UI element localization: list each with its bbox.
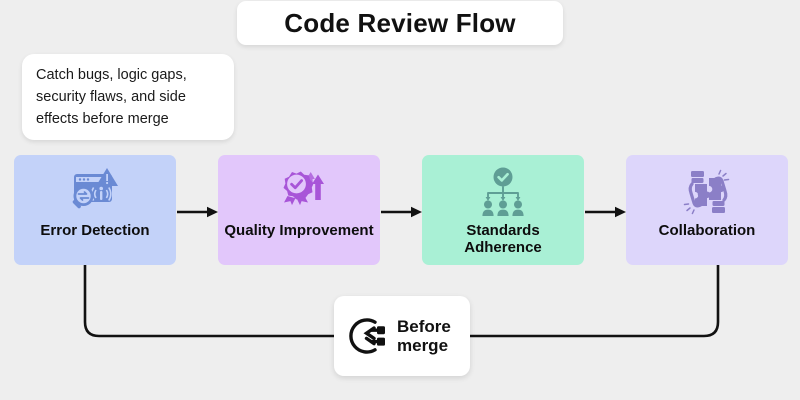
arrow-right-icon <box>177 205 219 217</box>
stage-card-quality-improvement[interactable]: Quality Improvement <box>218 155 380 265</box>
arrow-right-icon <box>381 205 423 217</box>
stage-label-quality-improvement: Quality Improvement <box>220 223 377 240</box>
git-merge-icon <box>347 315 389 357</box>
stage-label-standards-adherence: Standards Adherence <box>422 223 584 257</box>
collaboration-icon <box>678 163 736 221</box>
standards-adherence-icon <box>474 163 532 221</box>
page-title: Code Review Flow <box>284 10 515 36</box>
before-merge-card[interactable]: Before merge <box>334 296 470 376</box>
stage-label-collaboration: Collaboration <box>655 223 760 240</box>
loop-path-right <box>464 265 718 336</box>
before-merge-label-line2: merge <box>397 336 451 355</box>
error-detection-icon <box>65 163 125 221</box>
quality-improvement-icon <box>270 163 328 221</box>
stage-label-error-detection: Error Detection <box>36 223 153 240</box>
arrow-right-icon <box>585 205 627 217</box>
before-merge-label: Before merge <box>397 317 451 356</box>
stage-card-collaboration[interactable]: Collaboration <box>626 155 788 265</box>
stage-card-standards-adherence[interactable]: Standards Adherence <box>422 155 584 265</box>
loop-path-left <box>85 265 340 336</box>
diagram-title-card: Code Review Flow <box>237 1 563 45</box>
before-merge-label-line1: Before <box>397 317 451 336</box>
callout-text: Catch bugs, logic gaps, security flaws, … <box>36 64 220 130</box>
flow-diagram-canvas: Code Review Flow Catch bugs, logic gaps,… <box>0 0 800 400</box>
callout-card: Catch bugs, logic gaps, security flaws, … <box>22 54 234 140</box>
stage-card-error-detection[interactable]: Error Detection <box>14 155 176 265</box>
